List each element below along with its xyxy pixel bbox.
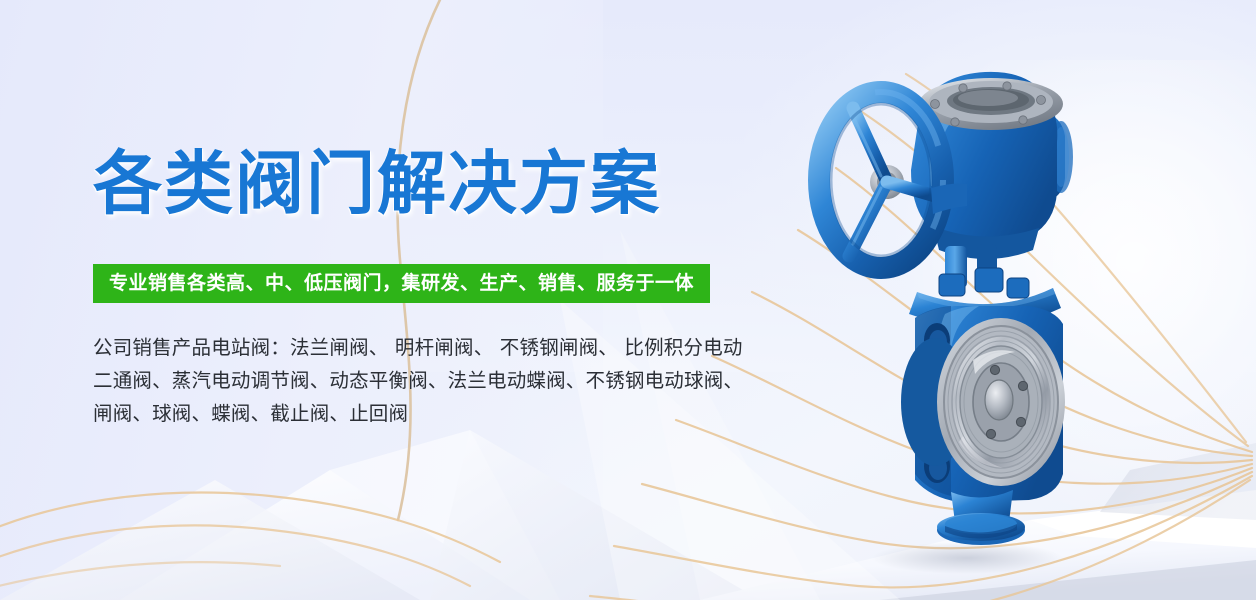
description-line-3: 闸阀、球阀、蝶阀、截止阀、止回阀 [93,397,783,430]
tagline-badge: 专业销售各类高、中、低压阀门，集研发、生产、销售、服务于一体 [93,264,710,303]
description-line-2: 二通阀、蒸汽电动调节阀、动态平衡阀、法兰电动蝶阀、不锈钢电动球阀、 [93,364,783,397]
product-description: 公司销售产品电站阀：法兰闸阀、 明杆闸阀、 不锈钢闸阀、 比例积分电动 二通阀、… [93,331,783,430]
banner-text-block: 各类阀门解决方案 专业销售各类高、中、低压阀门，集研发、生产、销售、服务于一体 … [93,150,793,430]
page-title: 各类阀门解决方案 [93,150,793,219]
promo-banner: 各类阀门解决方案 专业销售各类高、中、低压阀门，集研发、生产、销售、服务于一体 … [0,0,1256,600]
product-image-butterfly-valve [795,30,1125,575]
description-line-1: 公司销售产品电站阀：法兰闸阀、 明杆闸阀、 不锈钢闸阀、 比例积分电动 [93,331,783,364]
